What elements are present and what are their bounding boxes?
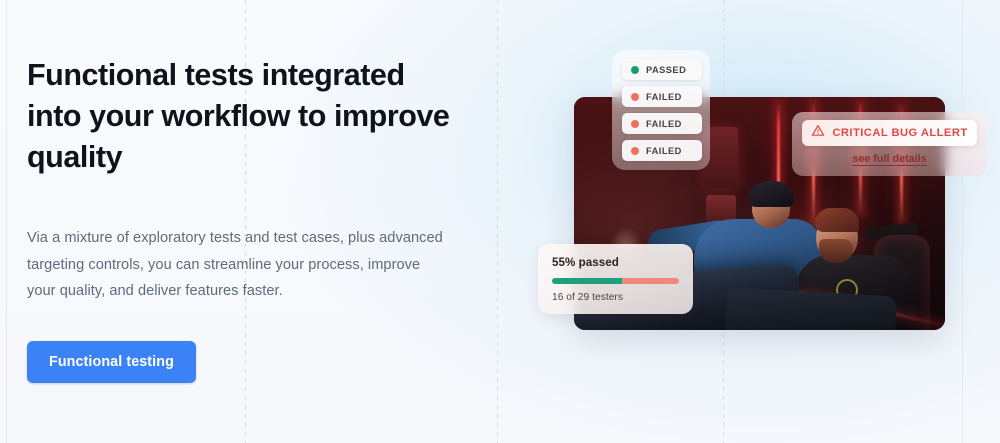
test-status-badge-list: PASSED FAILED FAILED FAILED	[612, 50, 710, 170]
functional-testing-button[interactable]: Functional testing	[27, 341, 196, 383]
pass-rate-title: 55% passed	[552, 256, 679, 269]
pass-rate-caption: 16 of 29 testers	[552, 292, 679, 303]
status-dot-icon	[631, 66, 639, 74]
status-badge-label: FAILED	[646, 92, 682, 102]
hero-copy-column: Functional tests integrated into your wo…	[27, 0, 467, 443]
critical-bug-alert-label: CRITICAL BUG ALLERT	[832, 127, 967, 139]
critical-bug-alert-pill[interactable]: CRITICAL BUG ALLERT	[802, 120, 977, 146]
hero-description: Via a mixture of exploratory tests and t…	[27, 225, 447, 305]
status-dot-icon	[631, 120, 639, 128]
pass-rate-progress-bar	[552, 278, 679, 284]
status-badge[interactable]: FAILED	[622, 113, 702, 134]
photo-person-beanie	[749, 181, 794, 207]
hero-visual-column: PASSED FAILED FAILED FAILED	[490, 0, 1000, 443]
status-badge-label: PASSED	[646, 65, 686, 75]
see-full-details-link[interactable]: see full details	[852, 153, 926, 165]
status-dot-icon	[631, 147, 639, 155]
photo-person-hair	[815, 208, 859, 232]
photo-person-beard	[819, 239, 853, 263]
warning-triangle-icon	[811, 124, 825, 142]
status-badge[interactable]: FAILED	[622, 140, 702, 161]
pass-rate-card: 55% passed 16 of 29 testers	[538, 244, 693, 314]
status-badge-label: FAILED	[646, 119, 682, 129]
status-badge[interactable]: FAILED	[622, 86, 702, 107]
status-badge-label: FAILED	[646, 146, 682, 156]
pass-rate-progress-fill	[552, 278, 622, 284]
critical-bug-alert-card: CRITICAL BUG ALLERT see full details	[792, 112, 987, 176]
status-badge[interactable]: PASSED	[622, 59, 702, 80]
status-dot-icon	[631, 93, 639, 101]
page-title: Functional tests integrated into your wo…	[27, 55, 457, 178]
hero-section: Functional tests integrated into your wo…	[0, 0, 1000, 443]
layout-rail	[6, 0, 7, 443]
